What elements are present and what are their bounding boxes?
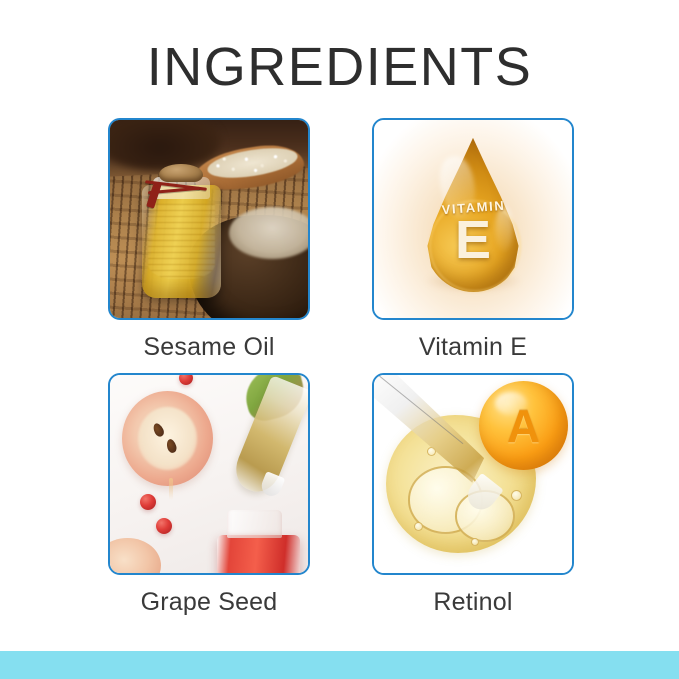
ingredient-label-grape-seed: Grape Seed — [108, 587, 310, 618]
ingredient-card-grape-seed[interactable] — [108, 373, 310, 575]
bottle-oil-rings — [148, 204, 215, 279]
sesame-seeds-in-mortar — [229, 207, 308, 258]
serum-bubble-small-5 — [471, 538, 479, 546]
page-title: INGREDIENTS — [0, 40, 679, 94]
red-bottle-body — [217, 535, 300, 574]
vitamin-e-image: VITAMIN E — [374, 120, 572, 318]
grape-seed-image — [110, 375, 308, 573]
grape-flesh-highlight — [138, 407, 197, 470]
ingredients-infographic: INGREDIENTS — [0, 0, 679, 679]
cork-stopper — [159, 164, 203, 183]
ingredient-cell-retinol[interactable]: A Retinol — [372, 373, 574, 618]
berry-2 — [156, 518, 172, 534]
retinol-image: A — [374, 375, 572, 573]
footer-accent-bar — [0, 651, 679, 679]
ingredient-card-retinol[interactable]: A — [372, 373, 574, 575]
ingredient-cell-sesame-oil[interactable]: Sesame Oil — [108, 118, 310, 363]
ingredient-label-retinol: Retinol — [372, 587, 574, 618]
ingredients-grid: Sesame Oil VITAMIN E Vitam — [108, 118, 574, 619]
serum-bubble-small-3 — [511, 490, 522, 501]
oil-drip — [169, 478, 173, 500]
ingredient-label-sesame-oil: Sesame Oil — [108, 332, 310, 363]
berry-1 — [140, 494, 156, 510]
ingredient-card-vitamin-e[interactable]: VITAMIN E — [372, 118, 574, 320]
sphere-letter-a: A — [479, 403, 568, 449]
oil-droplet-icon: VITAMIN E — [424, 138, 523, 292]
ingredient-card-sesame-oil[interactable] — [108, 118, 310, 320]
vitamin-a-sphere-icon: A — [479, 381, 568, 470]
red-oil-bottle — [217, 510, 300, 573]
serum-bubble-small-4 — [414, 522, 423, 531]
ingredient-cell-vitamin-e[interactable]: VITAMIN E Vitamin E — [372, 118, 574, 363]
sesame-oil-image — [110, 120, 308, 318]
sesame-oil-bottle — [142, 164, 221, 299]
ingredient-label-vitamin-e: Vitamin E — [372, 332, 574, 363]
red-bottle-neck — [227, 510, 282, 539]
droplet-vitamin-letter: E — [424, 213, 523, 267]
ingredient-cell-grape-seed[interactable]: Grape Seed — [108, 373, 310, 618]
